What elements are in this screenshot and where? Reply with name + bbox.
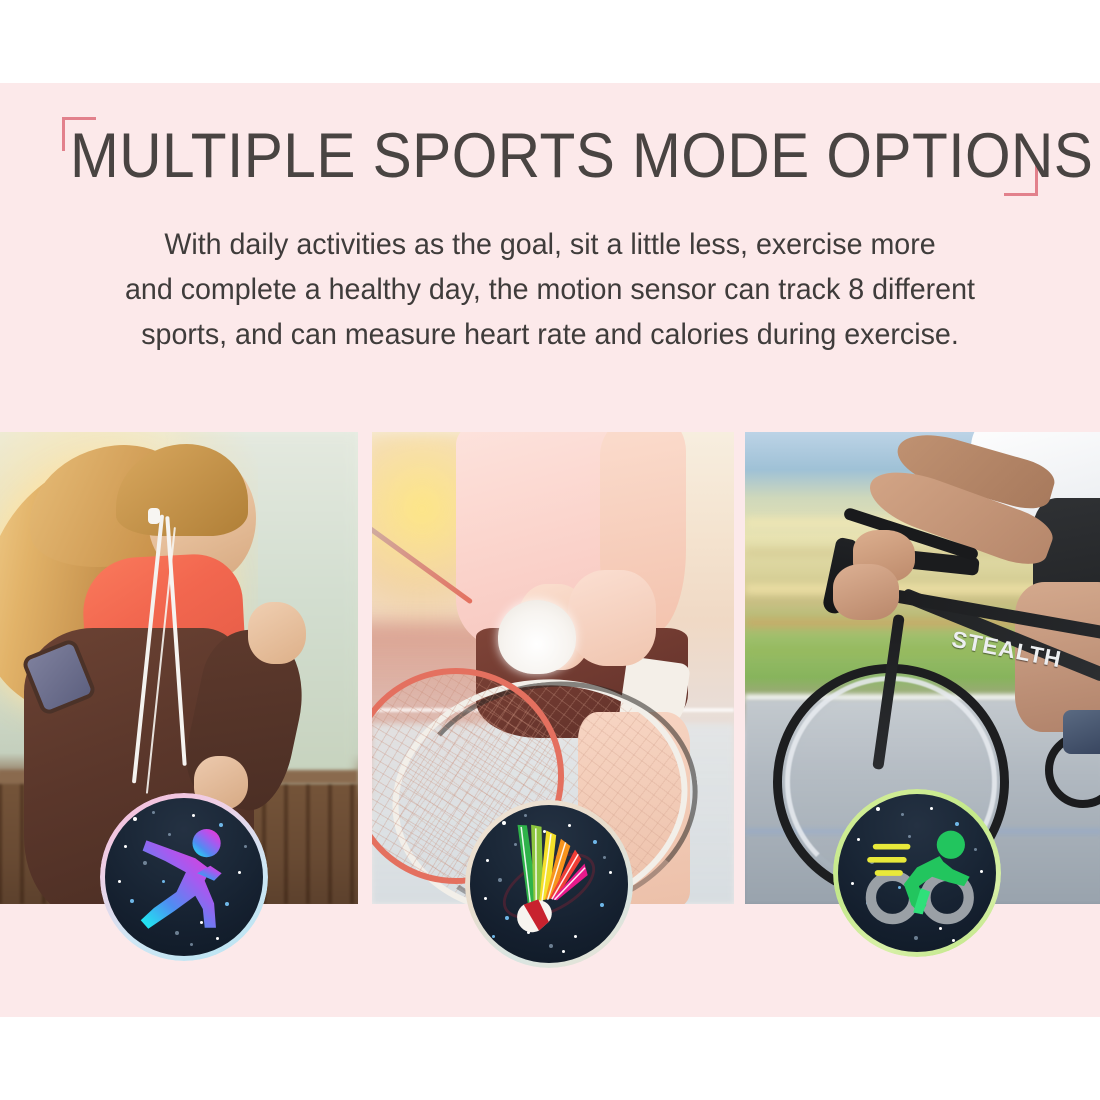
speed-lines <box>870 847 908 873</box>
cyclist-icon <box>838 794 996 952</box>
promo-canvas: MULTIPLE SPORTS MODE OPTIONS With daily … <box>0 0 1100 1100</box>
description-line-1: With daily activities as the goal, sit a… <box>65 222 1035 267</box>
page-title: MULTIPLE SPORTS MODE OPTIONS <box>70 118 963 194</box>
cycling-badge[interactable] <box>833 789 1001 957</box>
top-white-margin <box>0 0 1100 83</box>
shuttlecock-icon <box>470 805 628 963</box>
bottom-white-margin <box>0 1017 1100 1100</box>
running-badge[interactable] <box>100 793 268 961</box>
running-figure-icon <box>105 798 263 956</box>
description-line-2: and complete a healthy day, the motion s… <box>65 267 1035 312</box>
badminton-badge[interactable] <box>465 800 633 968</box>
description-block: With daily activities as the goal, sit a… <box>50 222 1050 357</box>
badge-disc <box>105 798 263 956</box>
description-line-3: sports, and can measure heart rate and c… <box>65 312 1035 357</box>
badge-disc <box>838 794 996 952</box>
badge-disc <box>470 805 628 963</box>
